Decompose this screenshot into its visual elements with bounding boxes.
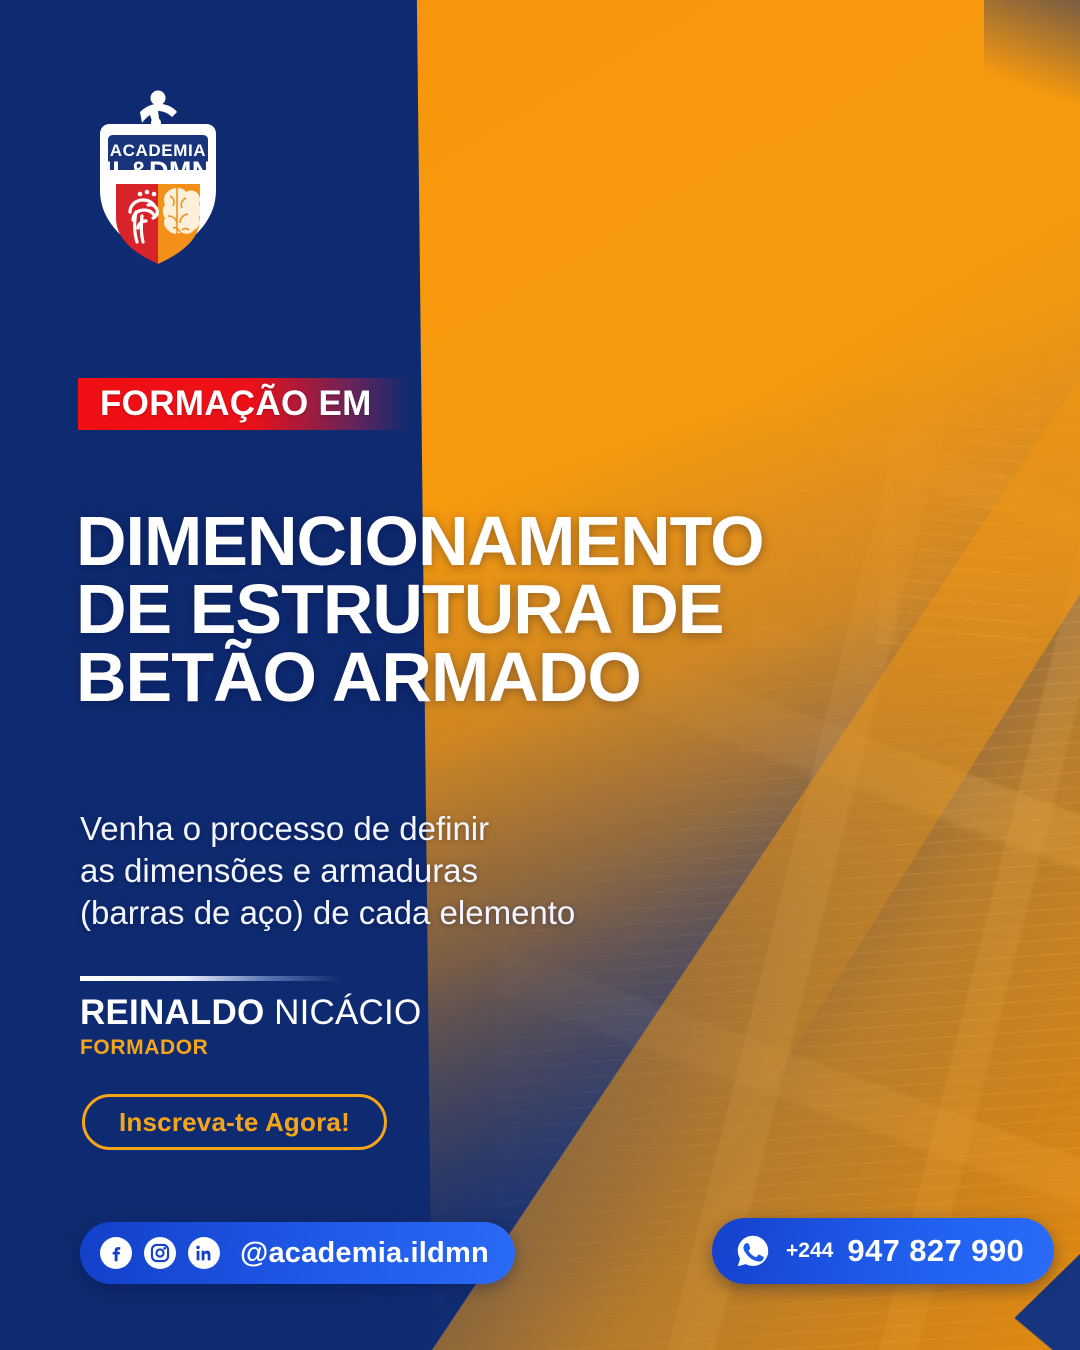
title-line-2: DE ESTRUTURA DE xyxy=(76,576,816,644)
presenter-last-name: NICÁCIO xyxy=(274,993,421,1032)
academia-logo: ACADEMIA IL&DMN xyxy=(78,88,238,278)
facebook-icon[interactable] xyxy=(100,1237,132,1269)
presenter-first-name: REINALDO xyxy=(80,993,264,1032)
social-media-bar[interactable]: @academia.ildmn xyxy=(80,1222,515,1284)
title-line-3: BETÃO ARMADO xyxy=(76,644,816,712)
formacao-badge: FORMAÇÃO EM xyxy=(78,378,410,430)
svg-text:IL&DMN: IL&DMN xyxy=(104,156,211,186)
description-line-2: as dimensões e armaduras xyxy=(80,850,720,892)
presenter-divider xyxy=(80,976,342,981)
enroll-button-label: Inscreva-te Agora! xyxy=(119,1107,350,1138)
phone-country-code: +244 xyxy=(786,1239,833,1263)
badge-label: FORMAÇÃO EM xyxy=(100,384,372,424)
enroll-button[interactable]: Inscreva-te Agora! xyxy=(82,1094,387,1150)
description-line-3: (barras de aço) de cada elemento xyxy=(80,892,720,934)
promotional-flyer: ACADEMIA IL&DMN xyxy=(0,0,1080,1350)
title-line-1: DIMENCIONAMENTO xyxy=(76,508,816,576)
instagram-icon[interactable] xyxy=(144,1237,176,1269)
whatsapp-contact-pill[interactable]: +244 947 827 990 xyxy=(712,1218,1054,1284)
whatsapp-icon xyxy=(734,1232,772,1270)
course-title: DIMENCIONAMENTO DE ESTRUTURA DE BETÃO AR… xyxy=(76,508,816,712)
presenter-name: REINALDO NICÁCIO xyxy=(80,995,500,1032)
phone-number: 947 827 990 xyxy=(847,1233,1024,1269)
linkedin-icon[interactable] xyxy=(188,1237,220,1269)
presenter-block: REINALDO NICÁCIO FORMADOR xyxy=(80,976,500,1060)
course-description: Venha o processo de definir as dimensões… xyxy=(80,808,720,935)
presenter-role: FORMADOR xyxy=(80,1036,500,1060)
social-handle: @academia.ildmn xyxy=(240,1237,489,1270)
description-line-1: Venha o processo de definir xyxy=(80,808,720,850)
